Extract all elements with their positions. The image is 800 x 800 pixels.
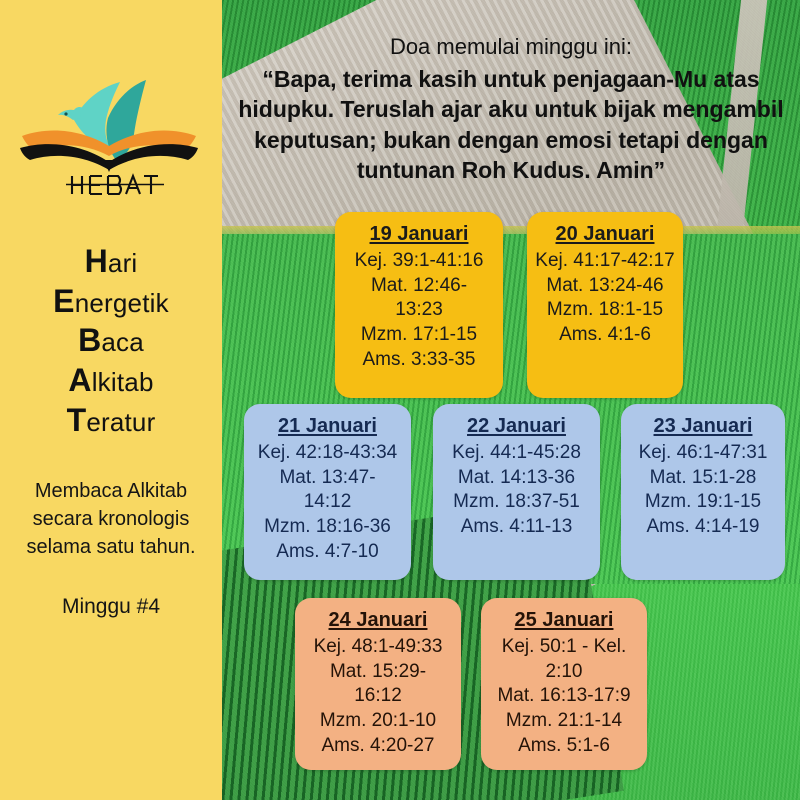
card-readings: Kej. 42:18-43:34 Mat. 13:47- 14:12 Mzm. … (250, 441, 405, 564)
reading-card-19-januari[interactable]: 19 Januari Kej. 39:1-41:16 Mat. 12:46- 1… (335, 212, 503, 398)
acronym-line-2: Baca (53, 321, 169, 361)
acronym-line-4: Teratur (53, 401, 169, 441)
hebat-logo (16, 76, 206, 198)
acronym-rest-2: aca (101, 327, 144, 357)
acronym-line-0: Hari (53, 242, 169, 282)
reading-card-21-januari[interactable]: 21 Januari Kej. 42:18-43:34 Mat. 13:47- … (244, 404, 411, 580)
reading-cards-grid: 19 Januari Kej. 39:1-41:16 Mat. 12:46- 1… (222, 0, 800, 800)
card-readings: Kej. 41:17-42:17 Mat. 13:24-46 Mzm. 18:1… (533, 249, 677, 348)
card-date: 23 Januari (654, 413, 753, 439)
reading-card-22-januari[interactable]: 22 Januari Kej. 44:1-45:28 Mat. 14:13-36… (433, 404, 600, 580)
card-readings: Kej. 50:1 - Kel. 2:10 Mat. 16:13-17:9 Mz… (487, 635, 641, 758)
acronym-cap-4: T (67, 402, 87, 438)
program-description: Membaca Alkitab secara kronologis selama… (11, 478, 211, 561)
week-label: Minggu #4 (62, 595, 160, 619)
card-date: 22 Januari (467, 413, 566, 439)
reading-card-25-januari[interactable]: 25 Januari Kej. 50:1 - Kel. 2:10 Mat. 16… (481, 598, 647, 770)
acronym-rest-0: ari (108, 248, 138, 278)
acronym-cap-0: H (85, 243, 108, 279)
card-readings: Kej. 44:1-45:28 Mat. 14:13-36 Mzm. 18:37… (439, 441, 594, 540)
acronym-line-3: Alkitab (53, 361, 169, 401)
poster-root: Hari Energetik Baca Alkitab Teratur Memb… (0, 0, 800, 800)
card-date: 25 Januari (515, 607, 614, 633)
card-date: 20 Januari (556, 221, 655, 247)
reading-card-24-januari[interactable]: 24 Januari Kej. 48:1-49:33 Mat. 15:29- 1… (295, 598, 461, 770)
logo-wordmark (66, 176, 164, 194)
acronym-block: Hari Energetik Baca Alkitab Teratur (53, 242, 169, 440)
acronym-rest-3: lkitab (92, 367, 154, 397)
acronym-cap-2: B (78, 322, 101, 358)
card-readings: Kej. 46:1-47:31 Mat. 15:1-28 Mzm. 19:1-1… (627, 441, 779, 540)
acronym-cap-3: A (68, 362, 91, 398)
acronym-line-1: Energetik (53, 282, 169, 322)
acronym-rest-1: nergetik (75, 288, 169, 318)
main-photo-panel: Doa memulai minggu ini: “Bapa, terima ka… (222, 0, 800, 800)
card-date: 24 Januari (329, 607, 428, 633)
reading-card-20-januari[interactable]: 20 Januari Kej. 41:17-42:17 Mat. 13:24-4… (527, 212, 683, 398)
sidebar: Hari Energetik Baca Alkitab Teratur Memb… (0, 0, 222, 800)
card-readings: Kej. 39:1-41:16 Mat. 12:46- 13:23 Mzm. 1… (341, 249, 497, 372)
card-date: 19 Januari (370, 221, 469, 247)
reading-card-23-januari[interactable]: 23 Januari Kej. 46:1-47:31 Mat. 15:1-28 … (621, 404, 785, 580)
acronym-rest-4: eratur (86, 407, 155, 437)
card-readings: Kej. 48:1-49:33 Mat. 15:29- 16:12 Mzm. 2… (301, 635, 455, 758)
acronym-cap-1: E (53, 283, 75, 319)
card-date: 21 Januari (278, 413, 377, 439)
